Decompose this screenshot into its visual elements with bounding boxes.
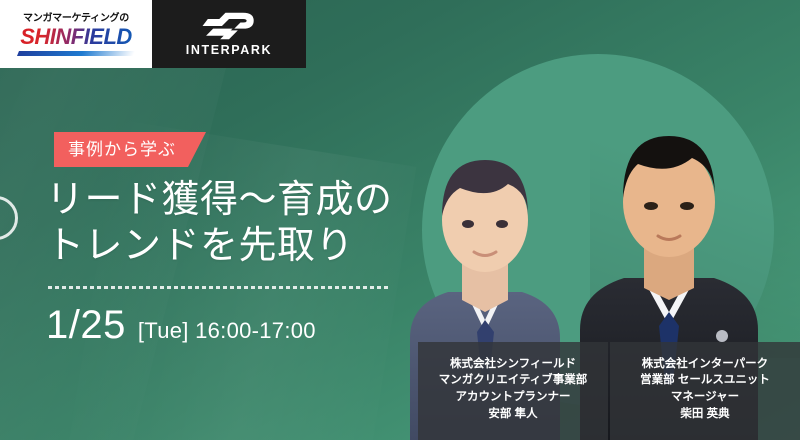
- interpark-mark-icon: [202, 11, 256, 41]
- hero-time: [Tue] 16:00-17:00: [138, 320, 316, 342]
- hero-date: 1/25: [46, 305, 126, 345]
- hero-badge: 事例から学ぶ: [54, 132, 206, 167]
- speaker-name: 柴田 英典: [680, 406, 729, 423]
- speaker-caption-right: 株式会社インターパーク 営業部 セールスユニット マネージャー 柴田 英典: [610, 342, 800, 440]
- speaker-name: 安部 隼人: [488, 406, 537, 423]
- speaker-captions: 株式会社シンフィールド マンガクリエイティブ事業部 アカウントプランナー 安部 …: [418, 342, 800, 440]
- hero-datetime: 1/25 [Tue] 16:00-17:00: [46, 305, 406, 345]
- shinfield-logo[interactable]: マンガマーケティングの SHINFIELD: [0, 0, 152, 68]
- speaker-company: 株式会社シンフィールド: [450, 356, 576, 373]
- interpark-wordmark: INTERPARK: [186, 44, 272, 57]
- hero-divider: [48, 286, 388, 289]
- speaker-division: 営業部 セールスユニット: [640, 372, 770, 389]
- hero-content: 事例から学ぶ リード獲得〜育成の トレンドを先取り 1/25 [Tue] 16:…: [46, 132, 406, 345]
- speaker-caption-left: 株式会社シンフィールド マンガクリエイティブ事業部 アカウントプランナー 安部 …: [418, 342, 608, 440]
- logo-strip: マンガマーケティングの SHINFIELD INTERPARK: [0, 0, 306, 68]
- shinfield-tagline: マンガマーケティングの: [23, 14, 129, 24]
- interpark-logo[interactable]: INTERPARK: [152, 0, 306, 68]
- webinar-banner: マンガマーケティングの SHINFIELD INTERPARK 事例から学ぶ リ…: [0, 0, 800, 440]
- shinfield-underline: [17, 51, 135, 56]
- speaker-division: マンガクリエイティブ事業部: [439, 372, 588, 389]
- hero-headline: リード獲得〜育成の トレンドを先取り: [46, 177, 406, 270]
- shinfield-wordmark: SHINFIELD: [20, 26, 132, 48]
- speaker-title: マネージャー: [671, 389, 739, 406]
- speaker-company: 株式会社インターパーク: [642, 356, 768, 373]
- speaker-title: アカウントプランナー: [456, 389, 571, 406]
